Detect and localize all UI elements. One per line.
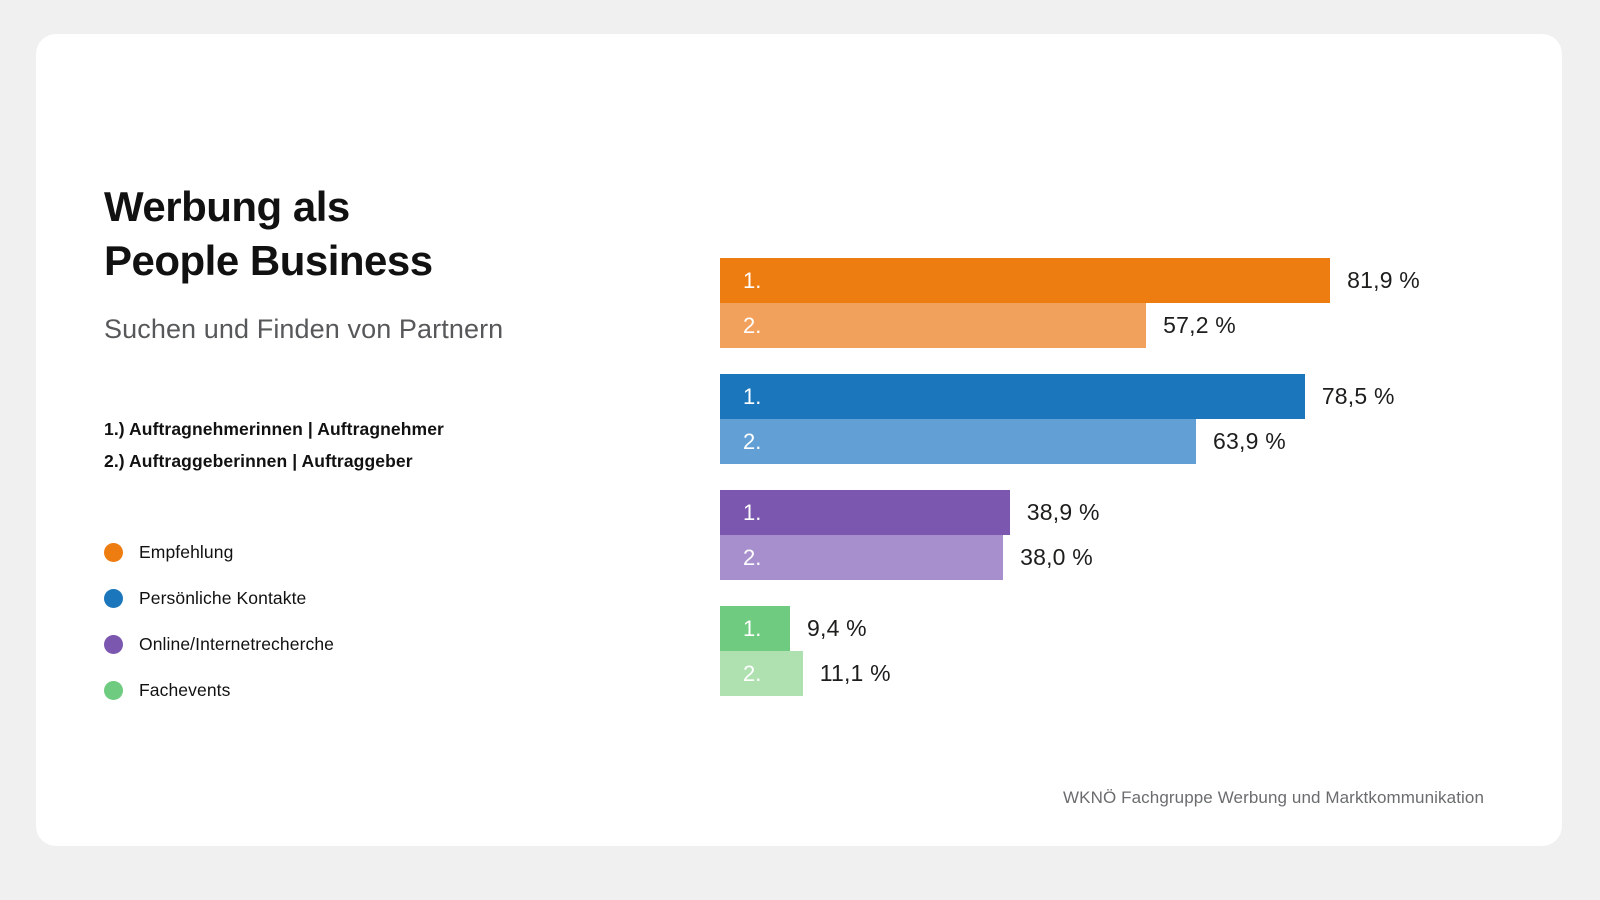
bar-rect[interactable]: 1.	[720, 490, 1010, 535]
bar-rank-label: 2.	[743, 431, 761, 453]
slide-card: Werbung als People Business Suchen und F…	[36, 34, 1562, 846]
bar-value-label: 9,4 %	[790, 606, 867, 651]
bar-group: 1.38,9 %2.38,0 %	[720, 490, 1420, 580]
bar-rect[interactable]: 2.	[720, 419, 1196, 464]
page-subtitle: Suchen und Finden von Partnern	[104, 314, 664, 345]
bar-rank-label: 1.	[743, 270, 761, 292]
bar-group: 1.9,4 %2.11,1 %	[720, 606, 1420, 696]
legend-item-empfehlung[interactable]: Empfehlung	[104, 529, 664, 575]
bar-rect[interactable]: 1.	[720, 374, 1305, 419]
bar-row: 1.81,9 %	[720, 258, 1420, 303]
bar-value-label: 38,0 %	[1003, 535, 1093, 580]
legend-item-label: Fachevents	[139, 680, 230, 701]
bar-row: 2.11,1 %	[720, 651, 1420, 696]
legend-item-label: Online/Internetrecherche	[139, 634, 334, 655]
bar-rect[interactable]: 2.	[720, 651, 803, 696]
legend-item-label: Persönliche Kontakte	[139, 588, 306, 609]
bar-value-label: 57,2 %	[1146, 303, 1236, 348]
footer-source: WKNÖ Fachgruppe Werbung und Marktkommuni…	[1063, 788, 1484, 808]
page-title: Werbung als People Business	[104, 180, 664, 288]
chart-legend: Empfehlung Persönliche Kontakte Online/I…	[104, 529, 664, 713]
bar-rect[interactable]: 1.	[720, 258, 1330, 303]
bar-row: 2.38,0 %	[720, 535, 1420, 580]
bar-rank-label: 1.	[743, 502, 761, 524]
bar-rank-label: 2.	[743, 547, 761, 569]
bar-rank-label: 2.	[743, 315, 761, 337]
left-column: Werbung als People Business Suchen und F…	[104, 180, 664, 713]
legend-dot-icon	[104, 635, 123, 654]
legend-item-fachevents[interactable]: Fachevents	[104, 667, 664, 713]
bar-row: 1.38,9 %	[720, 490, 1420, 535]
bar-rank-label: 1.	[743, 386, 761, 408]
legend-item-online-internetrecherche[interactable]: Online/Internetrecherche	[104, 621, 664, 667]
bar-row: 2.63,9 %	[720, 419, 1420, 464]
bar-value-label: 63,9 %	[1196, 419, 1286, 464]
bar-value-label: 38,9 %	[1010, 490, 1100, 535]
bar-value-label: 81,9 %	[1330, 258, 1420, 303]
bar-rect[interactable]: 2.	[720, 303, 1146, 348]
legend-dot-icon	[104, 543, 123, 562]
bar-group: 1.81,9 %2.57,2 %	[720, 258, 1420, 348]
bar-rank-label: 2.	[743, 663, 761, 685]
footnote-item: 1.) Auftragnehmerinnen | Auftragnehmer	[104, 413, 664, 445]
legend-item-label: Empfehlung	[139, 542, 233, 563]
bar-row: 1.78,5 %	[720, 374, 1420, 419]
bar-rect[interactable]: 1.	[720, 606, 790, 651]
bar-value-label: 78,5 %	[1305, 374, 1395, 419]
bar-rank-label: 1.	[743, 618, 761, 640]
bar-rect[interactable]: 2.	[720, 535, 1003, 580]
legend-item-persoenliche-kontakte[interactable]: Persönliche Kontakte	[104, 575, 664, 621]
bar-group: 1.78,5 %2.63,9 %	[720, 374, 1420, 464]
legend-dot-icon	[104, 589, 123, 608]
legend-dot-icon	[104, 681, 123, 700]
bar-chart: 1.81,9 %2.57,2 %1.78,5 %2.63,9 %1.38,9 %…	[720, 258, 1420, 722]
footnote-list: 1.) Auftragnehmerinnen | Auftragnehmer 2…	[104, 413, 664, 478]
bar-row: 2.57,2 %	[720, 303, 1420, 348]
footnote-item: 2.) Auftraggeberinnen | Auftraggeber	[104, 445, 664, 477]
bar-value-label: 11,1 %	[803, 651, 891, 696]
bar-row: 1.9,4 %	[720, 606, 1420, 651]
